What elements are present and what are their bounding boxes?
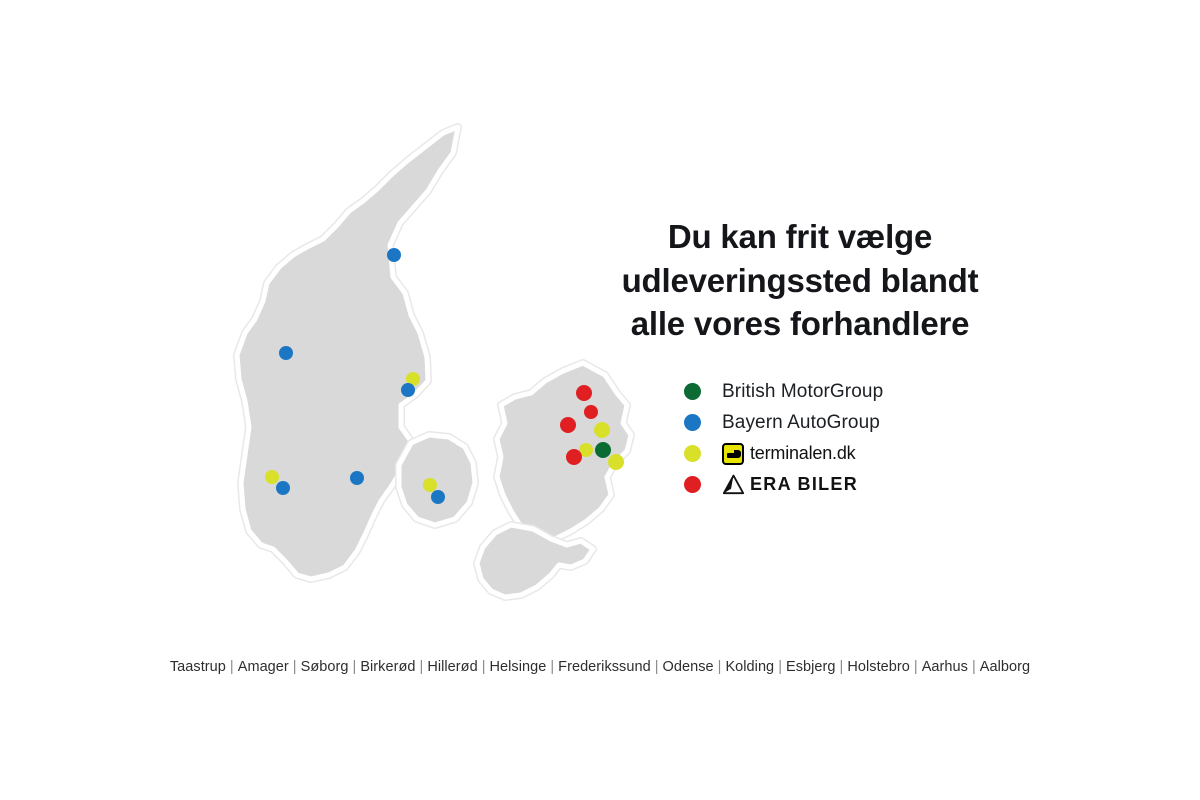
map-dot-odense-blue[interactable] — [431, 490, 445, 504]
map-dot-hillerod[interactable] — [584, 405, 598, 419]
legend-item-british-motorgroup[interactable]: British MotorGroup — [684, 376, 1004, 407]
terminalen-logo: terminalen.dk — [722, 443, 855, 465]
legend-swatch-green — [684, 383, 701, 400]
terminalen-wordmark: terminalen.dk — [750, 443, 855, 464]
city-esbjerg: Esbjerg — [786, 659, 836, 675]
city-amager: Amager — [238, 659, 289, 675]
legend-label-era-biler: ERA BILER — [722, 474, 858, 495]
map-dot-kolding[interactable] — [350, 471, 364, 485]
legend-swatch-blue — [684, 414, 701, 431]
denmark-map-svg — [215, 105, 635, 625]
legend-label-british-motorgroup: British MotorGroup — [722, 381, 883, 403]
map-dot-holstebro-blue[interactable] — [276, 481, 290, 495]
brand-legend: British MotorGroup Bayern AutoGroup term… — [684, 376, 1004, 500]
era-biler-wordmark: ERA BILER — [750, 474, 858, 495]
city-separator: | — [348, 659, 360, 675]
map-dot-aarhus-blue[interactable] — [401, 383, 415, 397]
city-separator: | — [910, 659, 922, 675]
funen — [399, 435, 475, 525]
map-dot-esbjerg[interactable] — [279, 346, 293, 360]
city-list: Taastrup|Amager|Søborg|Birkerød|Hillerød… — [0, 659, 1200, 675]
triangle-icon — [722, 474, 745, 495]
city-odense: Odense — [663, 659, 714, 675]
city-separator: | — [289, 659, 301, 675]
legend-item-bayern-autogroup[interactable]: Bayern AutoGroup — [684, 407, 1004, 438]
city-holstebro: Holstebro — [847, 659, 910, 675]
city-separator: | — [226, 659, 238, 675]
legend-swatch-red — [684, 476, 701, 493]
map-dot-frederikssund[interactable] — [560, 417, 576, 433]
city-separator: | — [968, 659, 980, 675]
city-separator: | — [651, 659, 663, 675]
map-landmasses — [237, 127, 631, 597]
city-separator: | — [546, 659, 558, 675]
denmark-map — [215, 105, 635, 625]
legend-item-era-biler[interactable]: ERA BILER — [684, 469, 1004, 500]
map-dot-aalborg[interactable] — [387, 248, 401, 262]
map-infographic: Du kan frit vælge udleveringssted blandt… — [0, 0, 1200, 800]
headline-line-1: Du kan frit vælge — [600, 215, 1000, 259]
city-birker-d: Birkerød — [360, 659, 415, 675]
map-dot-holstebro-lime[interactable] — [265, 470, 279, 484]
city-separator: | — [714, 659, 726, 675]
map-dot-amager-green[interactable] — [595, 442, 611, 458]
headline-line-2: udleveringssted blandt — [600, 259, 1000, 303]
city-separator: | — [774, 659, 786, 675]
legend-item-terminalen[interactable]: terminalen.dk — [684, 438, 1004, 469]
headline-line-3: alle vores forhandlere — [600, 302, 1000, 346]
truck-icon — [722, 443, 744, 465]
city-kolding: Kolding — [725, 659, 774, 675]
city-separator: | — [416, 659, 428, 675]
legend-label-terminalen: terminalen.dk — [722, 443, 855, 465]
city-helsinge: Helsinge — [490, 659, 547, 675]
map-dot-birkerod-lime[interactable] — [594, 422, 610, 438]
legend-swatch-lime — [684, 445, 701, 462]
era-biler-logo: ERA BILER — [722, 474, 858, 495]
southern-islands — [477, 525, 593, 597]
city-separator: | — [478, 659, 490, 675]
legend-label-bayern-autogroup: Bayern AutoGroup — [722, 412, 880, 434]
city-separator: | — [836, 659, 848, 675]
map-dot-amager-lime[interactable] — [608, 454, 624, 470]
city-aalborg: Aalborg — [980, 659, 1030, 675]
city-s-borg: Søborg — [301, 659, 349, 675]
city-aarhus: Aarhus — [922, 659, 968, 675]
city-hiller-d: Hillerød — [427, 659, 477, 675]
map-dot-helsinge[interactable] — [576, 385, 592, 401]
city-frederikssund: Frederikssund — [558, 659, 651, 675]
page-title: Du kan frit vælge udleveringssted blandt… — [600, 215, 1000, 346]
map-dot-taastrup[interactable] — [566, 449, 582, 465]
city-taastrup: Taastrup — [170, 659, 226, 675]
